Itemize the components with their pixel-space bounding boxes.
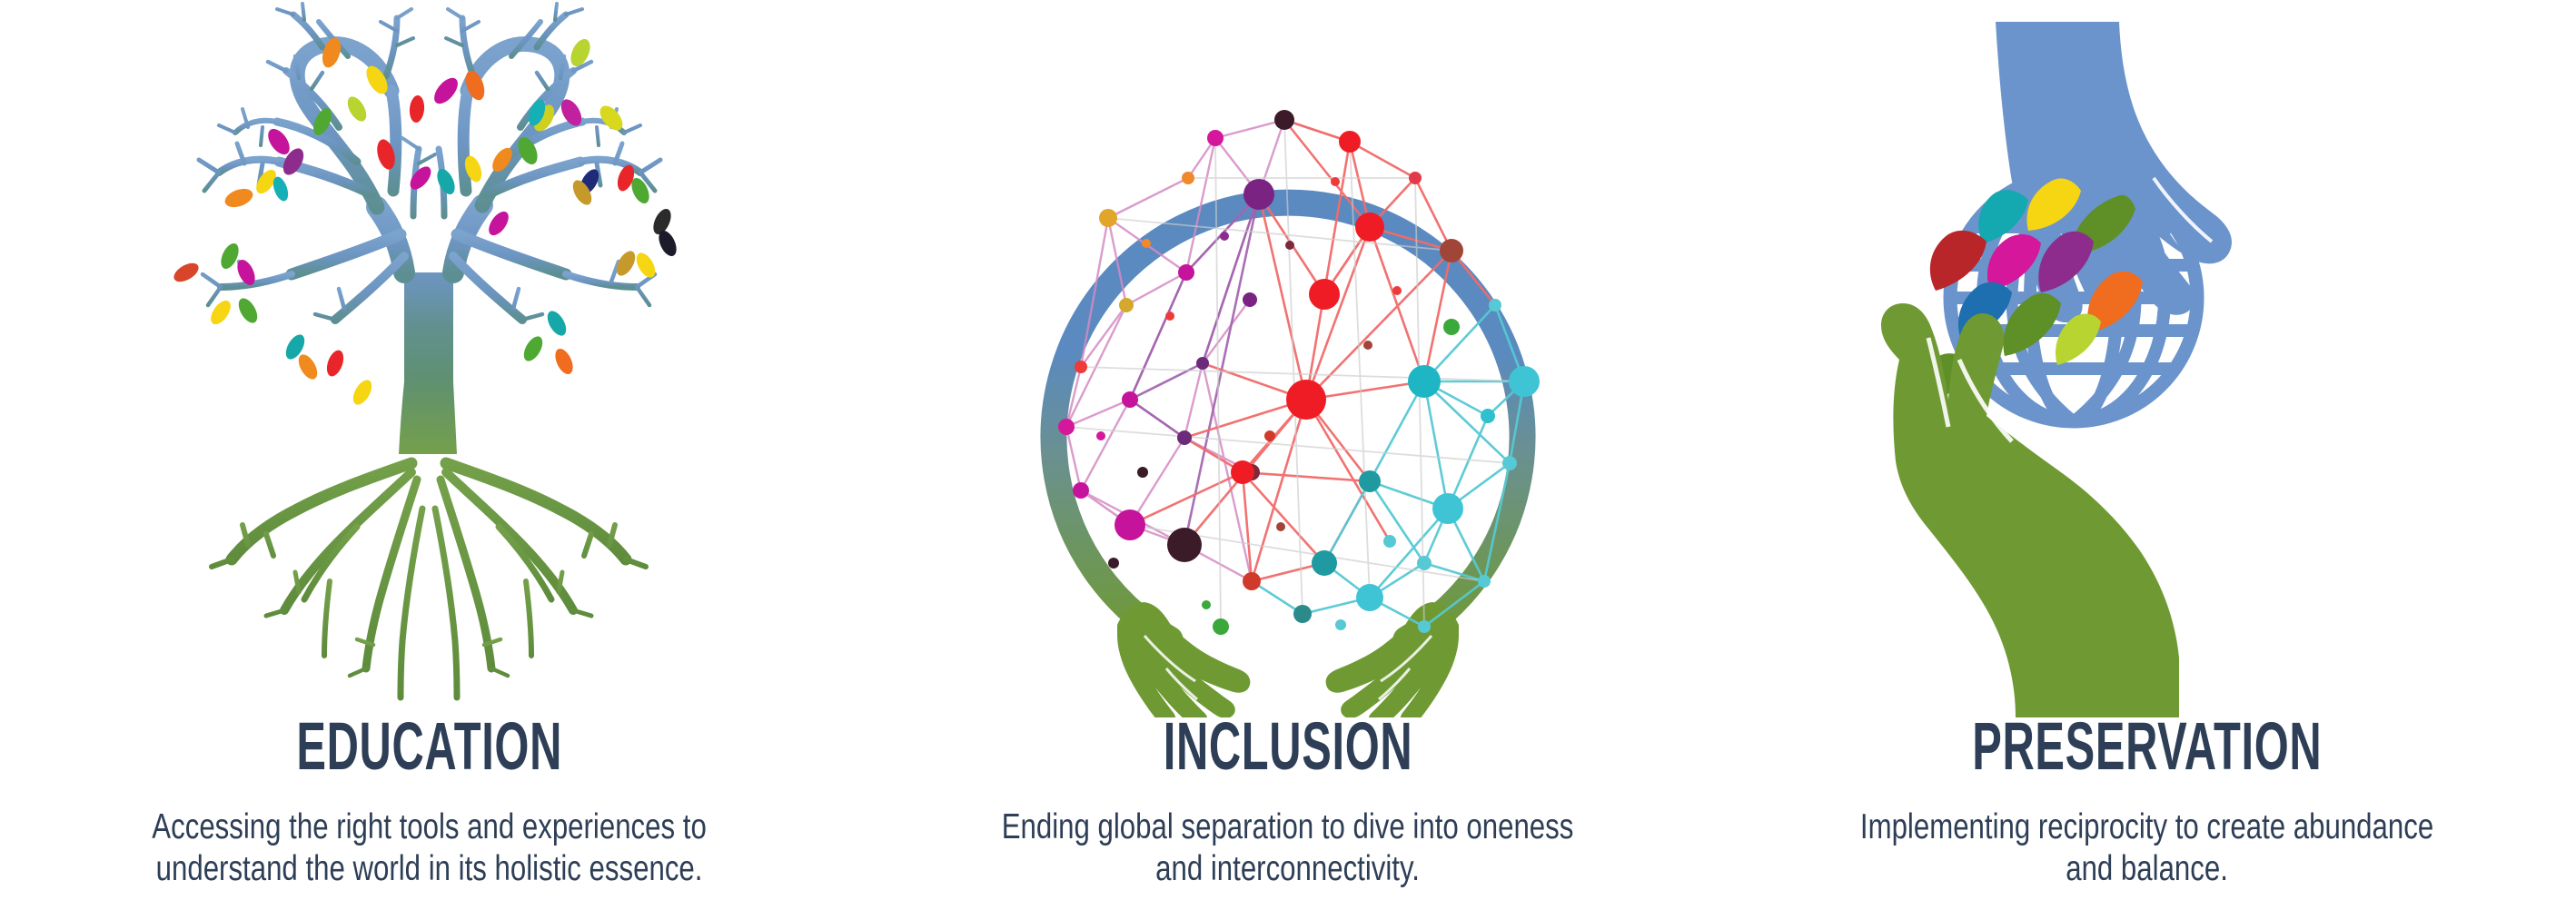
heading-education: EDUCATION xyxy=(296,717,562,776)
column-education: EDUCATION Accessing the right tools and … xyxy=(0,0,858,910)
heading-preservation-wrap: PRESERVATION xyxy=(1718,717,2576,796)
network-globe-in-hands-icon xyxy=(943,0,1633,717)
description-line: Accessing the right tools and experience… xyxy=(152,806,706,848)
description-inclusion: Ending global separation to dive into on… xyxy=(1002,806,1574,890)
description-preservation-wrap: Implementing reciprocity to create abund… xyxy=(1718,806,2576,890)
heading-inclusion-wrap: INCLUSION xyxy=(858,717,1717,796)
globe-in-hands-illustration xyxy=(1718,0,2576,717)
heading-inclusion: INCLUSION xyxy=(1164,717,1413,776)
globe-in-hands-icon xyxy=(1801,0,2492,717)
three-pillars-graphic: EDUCATION Accessing the right tools and … xyxy=(0,0,2576,910)
description-line: and interconnectivity. xyxy=(1002,848,1574,890)
heart-tree-icon xyxy=(84,0,775,717)
network-globe-illustration xyxy=(858,0,1717,717)
description-line: Ending global separation to dive into on… xyxy=(1002,806,1574,848)
description-line: and balance. xyxy=(1860,848,2433,890)
column-preservation: PRESERVATION Implementing reciprocity to… xyxy=(1718,0,2576,910)
heading-preservation: PRESERVATION xyxy=(1972,717,2322,776)
description-line: Implementing reciprocity to create abund… xyxy=(1860,806,2433,848)
description-education-wrap: Accessing the right tools and experience… xyxy=(0,806,858,890)
description-preservation: Implementing reciprocity to create abund… xyxy=(1860,806,2433,890)
heading-education-wrap: EDUCATION xyxy=(0,717,858,796)
columns-row: EDUCATION Accessing the right tools and … xyxy=(0,0,2576,910)
heart-tree-illustration xyxy=(0,0,858,717)
description-line: understand the world in its holistic ess… xyxy=(152,848,706,890)
description-education: Accessing the right tools and experience… xyxy=(152,806,706,890)
description-inclusion-wrap: Ending global separation to dive into on… xyxy=(858,806,1717,890)
column-inclusion: INCLUSION Ending global separation to di… xyxy=(858,0,1717,910)
